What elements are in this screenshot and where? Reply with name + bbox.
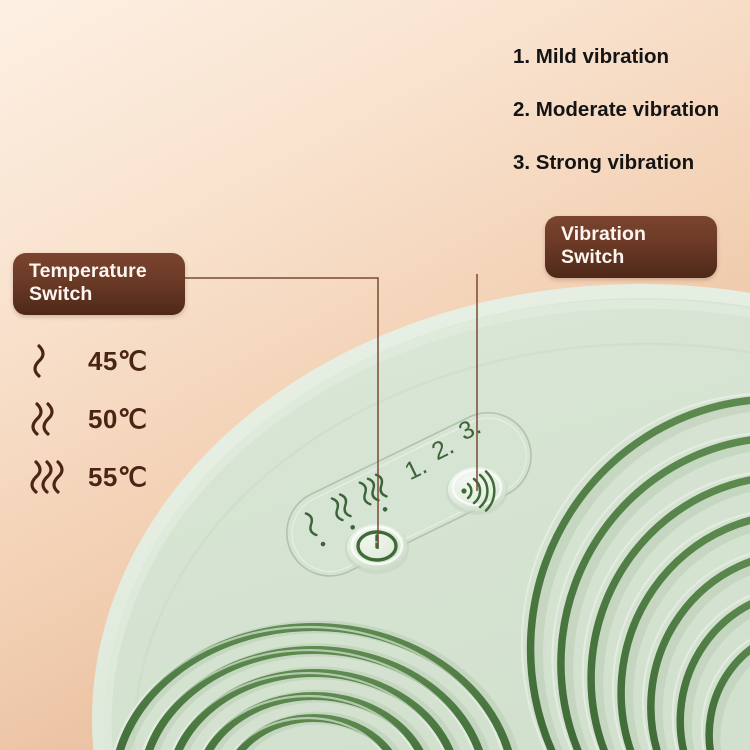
- vibration-callout-line1: Vibration: [561, 223, 646, 245]
- infographic-canvas: 1. 2. 3.: [0, 0, 750, 750]
- temperature-level-row: 45℃: [24, 334, 204, 388]
- heat-wave-2-icon: [24, 400, 76, 438]
- vibration-levels-list: 1. Mild vibration 2. Moderate vibration …: [513, 45, 748, 204]
- temperature-level-label: 45℃: [88, 346, 147, 377]
- vibration-switch-callout: Vibration Switch: [545, 216, 717, 278]
- temperature-level-row: 50℃: [24, 392, 204, 446]
- temperature-switch-callout: Temperature Switch: [13, 253, 185, 315]
- temperature-levels-list: 45℃ 50℃ 55℃: [24, 334, 204, 508]
- power-button-art: [345, 524, 409, 574]
- heat-wave-3-icon: [24, 458, 76, 496]
- temperature-callout-line2: Switch: [29, 283, 169, 306]
- vibration-level-item: 3. Strong vibration: [513, 151, 748, 175]
- heat-wave-1-icon: [24, 342, 76, 380]
- temperature-callout-line1: Temperature: [29, 260, 147, 282]
- vibration-level-item: 1. Mild vibration: [513, 45, 748, 69]
- vibration-level-item: 2. Moderate vibration: [513, 98, 748, 122]
- temperature-level-label: 50℃: [88, 404, 147, 435]
- temperature-level-label: 55℃: [88, 462, 147, 493]
- temperature-level-row: 55℃: [24, 450, 204, 504]
- vibration-callout-line2: Switch: [561, 246, 701, 269]
